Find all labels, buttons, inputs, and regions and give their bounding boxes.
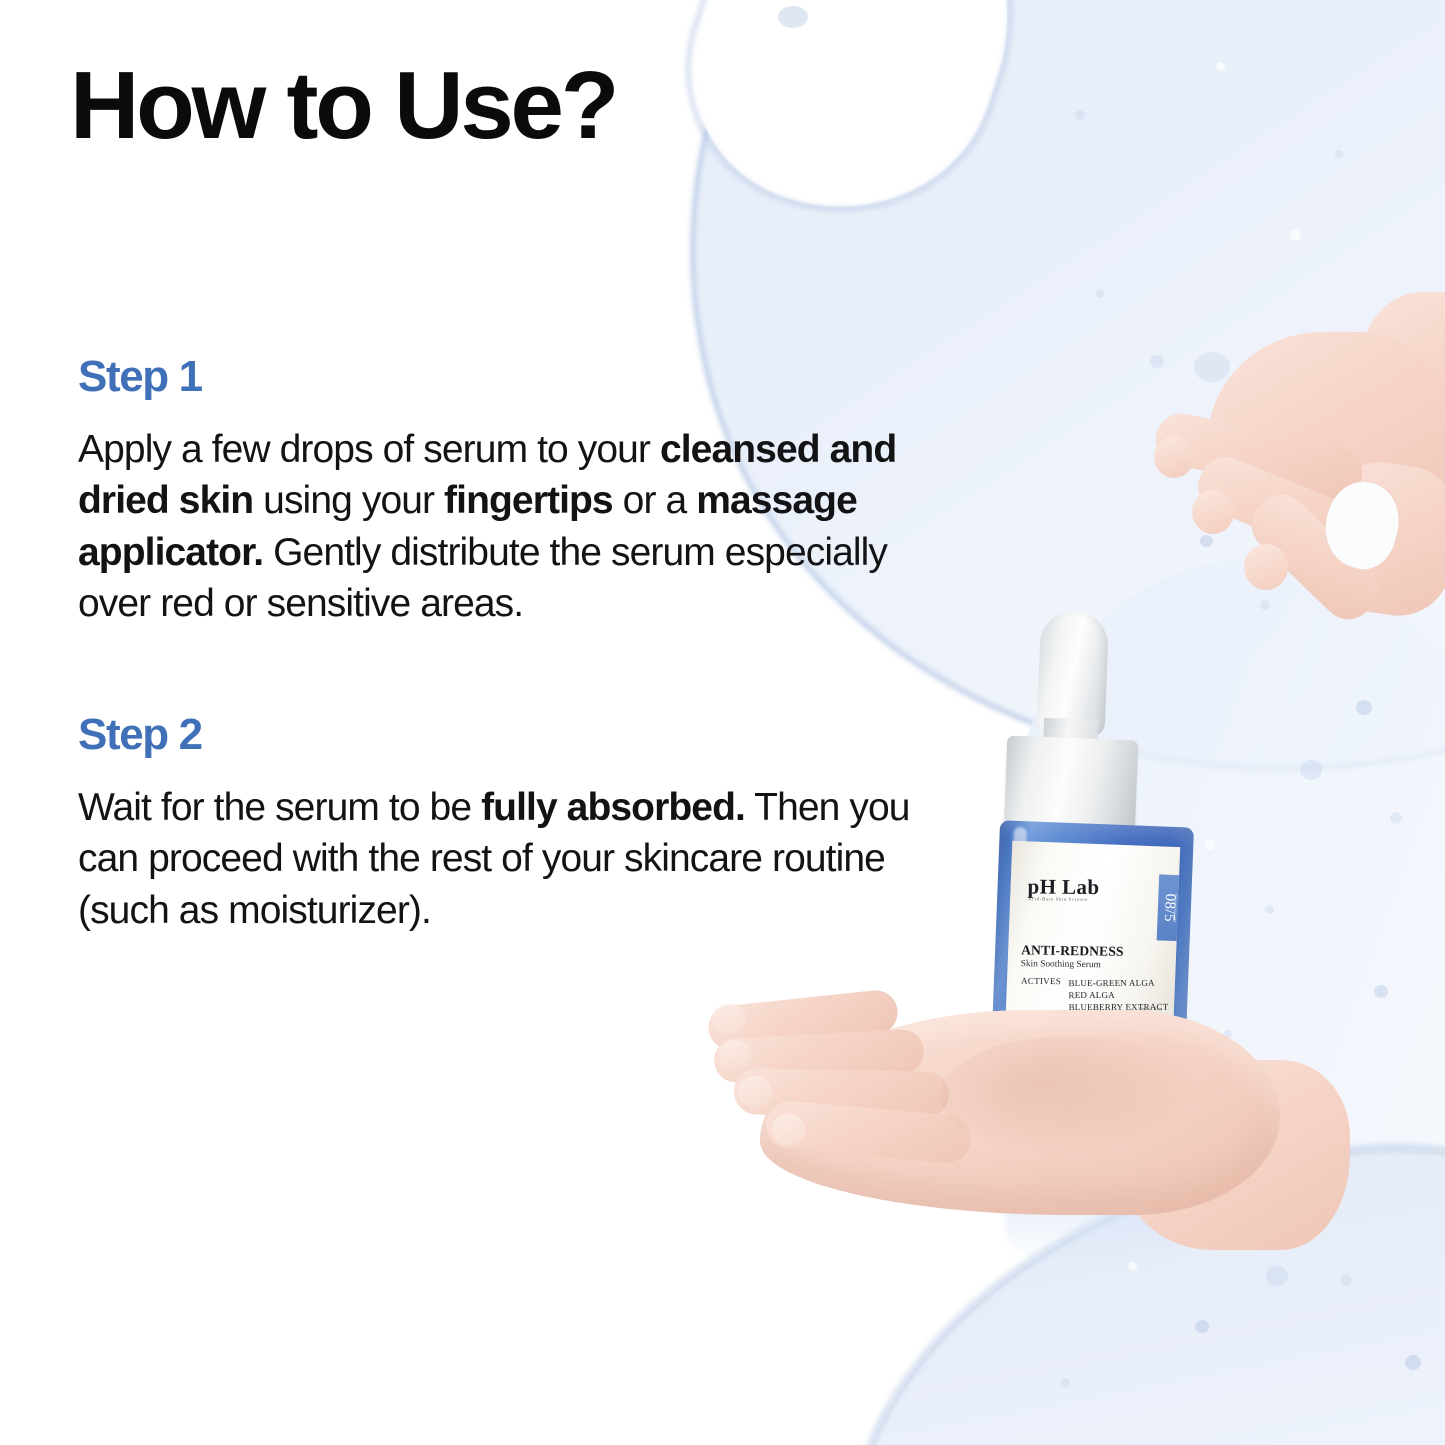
gel-bubble (1335, 150, 1343, 158)
gel-bubble (1060, 1378, 1070, 1388)
gel-bubble (1390, 812, 1402, 824)
step-1-body: Apply a few drops of serum to your clean… (78, 424, 938, 630)
fingernail (738, 1076, 772, 1108)
steps-list: Step 1 Apply a few drops of serum to you… (78, 352, 938, 936)
gel-bubble (1405, 1355, 1421, 1370)
hand-holding-bottle (690, 950, 1310, 1280)
fingertip (1154, 436, 1194, 478)
gel-bubble (1300, 760, 1322, 780)
gel-bubble (1265, 905, 1274, 914)
step-1-title: Step 1 (78, 352, 938, 402)
step-item: Step 2 Wait for the serum to be fully ab… (78, 710, 938, 936)
step-2-body: Wait for the serum to be fully absorbed.… (78, 782, 938, 936)
step-1-text-part: or a (613, 479, 696, 522)
fingertip (1244, 544, 1288, 590)
gel-bubble (1096, 290, 1104, 298)
fingernail (718, 1040, 752, 1070)
fingertip (1192, 490, 1234, 534)
gel-bubble (1216, 62, 1225, 71)
step-1-text-part-bold: fingertips (444, 479, 613, 522)
page-title: How to Use? (70, 58, 616, 154)
gel-bubble (1075, 110, 1085, 120)
step-item: Step 1 Apply a few drops of serum to you… (78, 352, 938, 630)
gel-bubble (1195, 1320, 1209, 1333)
gel-blob-top-notch-rim (649, 0, 1051, 256)
palm-shading (940, 1036, 1200, 1156)
fingernail (772, 1114, 806, 1146)
gel-bubble (778, 6, 808, 28)
how-to-use-infographic: How to Use? Step 1 Apply a few drops of … (0, 0, 1445, 1445)
step-2-text-part: Wait for the serum to be (78, 786, 481, 829)
fingernail (712, 1004, 746, 1034)
step-2-text-part-bold: fully absorbed. (481, 786, 745, 829)
step-1-text-part: using your (253, 479, 444, 522)
gel-blob-top-notch (656, 0, 1043, 248)
gel-bubble (1340, 1275, 1352, 1286)
step-2-title: Step 2 (78, 710, 938, 760)
brand-tagline: Acid-Base Skin Science (1028, 896, 1088, 902)
gel-bubble (1290, 230, 1301, 241)
step-1-text-part: Apply a few drops of serum to your (78, 428, 660, 471)
ph-badge-value: 08/5 (1160, 893, 1178, 922)
gel-bubble (1374, 985, 1388, 998)
ph-badge: Formulation pH 08/5 (1157, 874, 1181, 941)
